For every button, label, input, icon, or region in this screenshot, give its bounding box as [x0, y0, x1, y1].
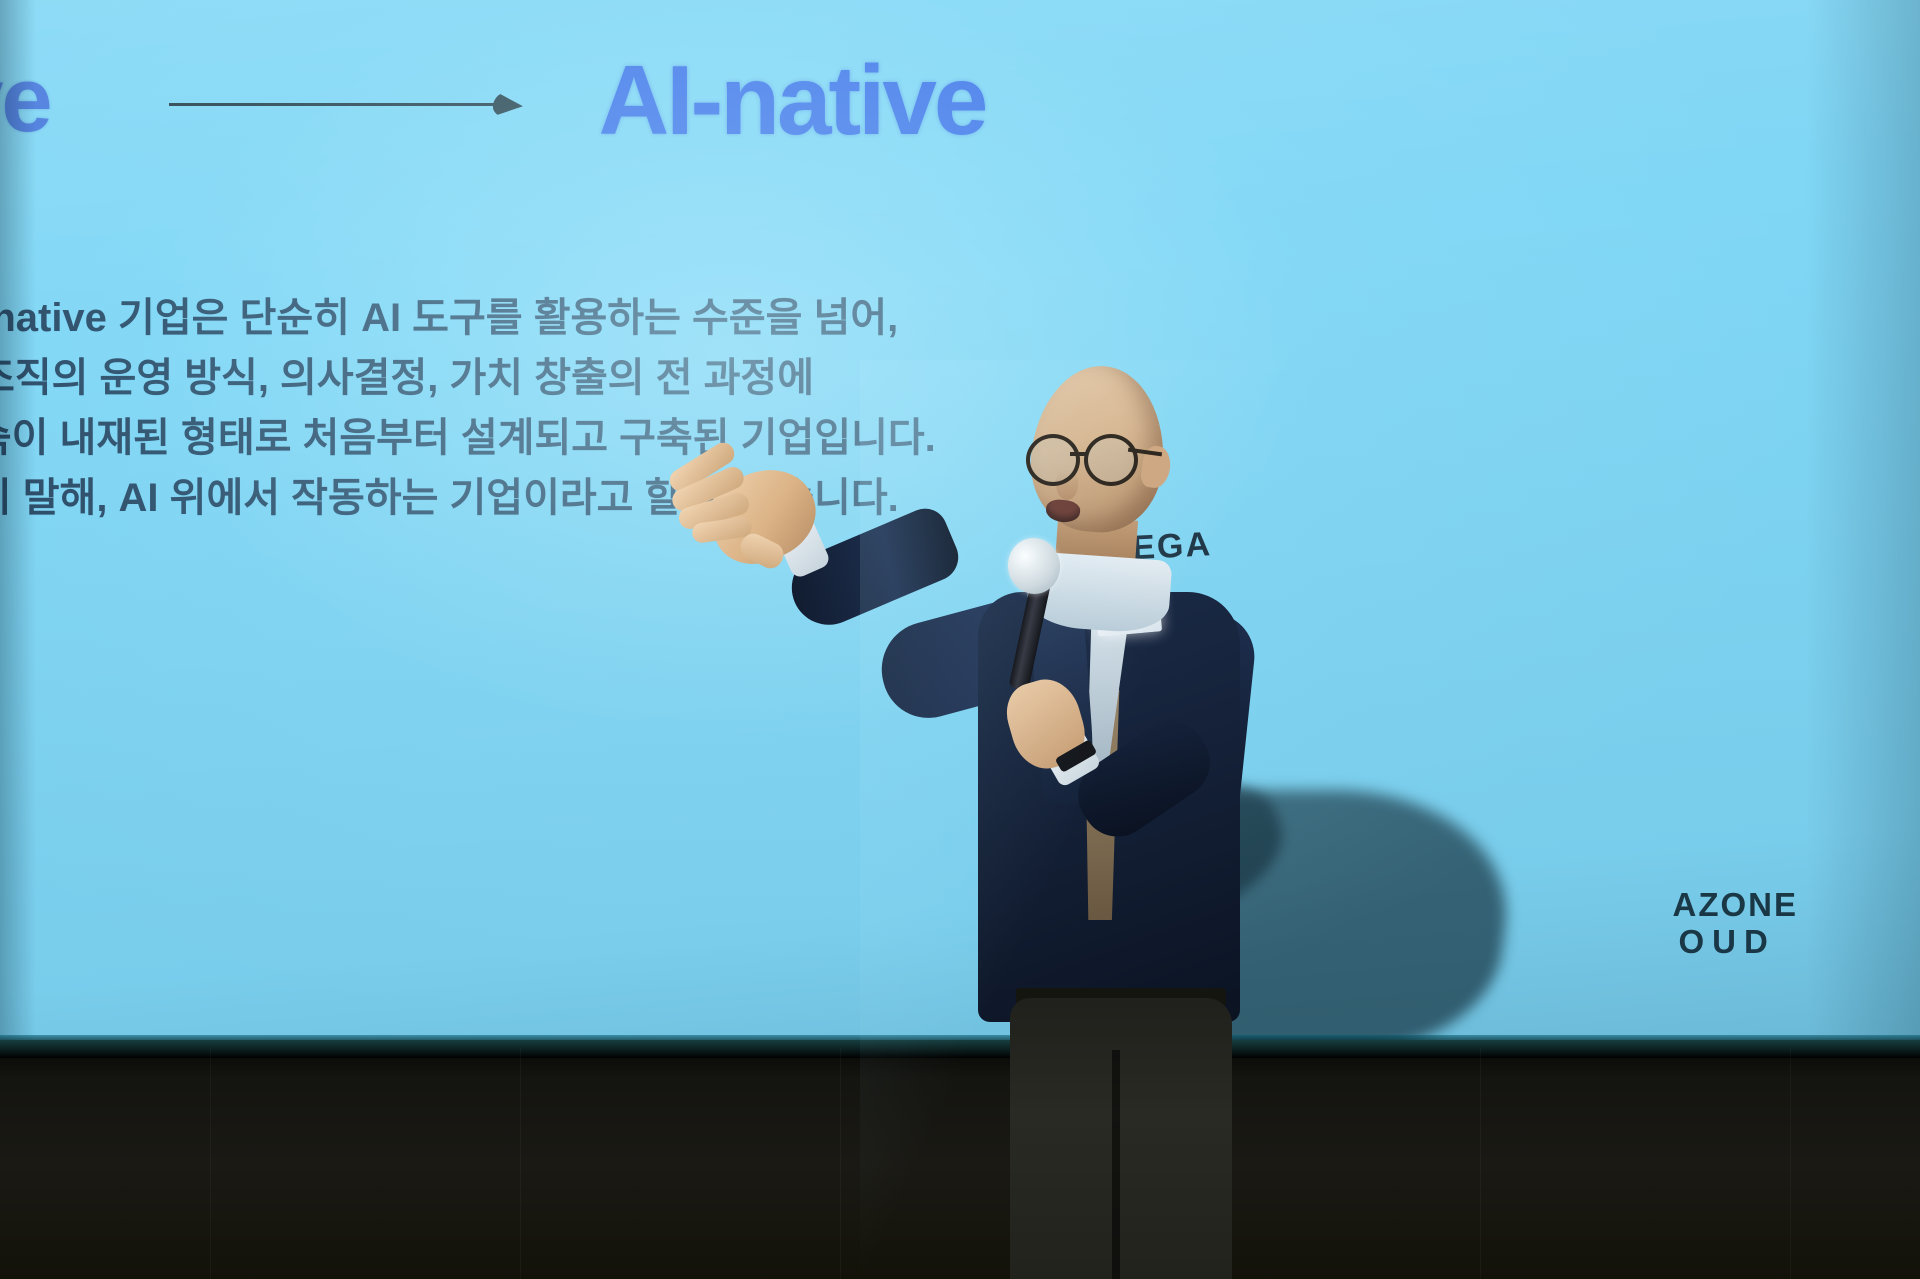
- slide-body-text: AI-native 기업은 단순히 AI 도구를 활용하는 수준을 넘어, 조직…: [0, 288, 998, 528]
- speaker-cast-shadow-arm: [1042, 761, 1300, 958]
- megazone-cloud-logo-line-2: OUD: [1673, 921, 1799, 962]
- slide-title-ai-native: AI-native: [599, 44, 986, 157]
- projection-screen: tive AI-native AI-native 기업은 단순히 AI 도구를 …: [0, 0, 1920, 1045]
- slide-body-line-2: 조직의 운영 방식, 의사결정, 가치 창출의 전 과정에: [0, 348, 998, 408]
- stage-floor: [0, 1040, 1920, 1279]
- megazone-cloud-logo-line-1: AZONE: [1673, 888, 1799, 921]
- slide-title-row: tive AI-native: [0, 44, 1356, 157]
- projector-gradient-overlay: [0, 0, 1920, 1045]
- slide-body-line-4: 다시 말해, AI 위에서 작동하는 기업이라고 할 수 있습니다.: [0, 468, 998, 528]
- stage-floor-lip: [0, 1040, 1920, 1058]
- presentation-photo: tive AI-native AI-native 기업은 단순히 AI 도구를 …: [0, 0, 1920, 1279]
- slide-title-left-fragment: tive: [0, 48, 51, 153]
- projector-light-wash: [0, 0, 1920, 1045]
- slide-body-line-1: AI-native 기업은 단순히 AI 도구를 활용하는 수준을 넘어,: [0, 288, 998, 348]
- speaker-cast-shadow: [1020, 790, 1522, 1045]
- slide-body-line-3: 깊숙이 내재된 형태로 처음부터 설계되고 구축된 기업입니다.: [0, 408, 998, 468]
- screen-left-vignette: [0, 0, 36, 1045]
- right-arrow-icon: [169, 85, 561, 125]
- megazone-cloud-logo: AZONE OUD: [1673, 888, 1799, 962]
- screen-right-vignette: [1806, 0, 1920, 1045]
